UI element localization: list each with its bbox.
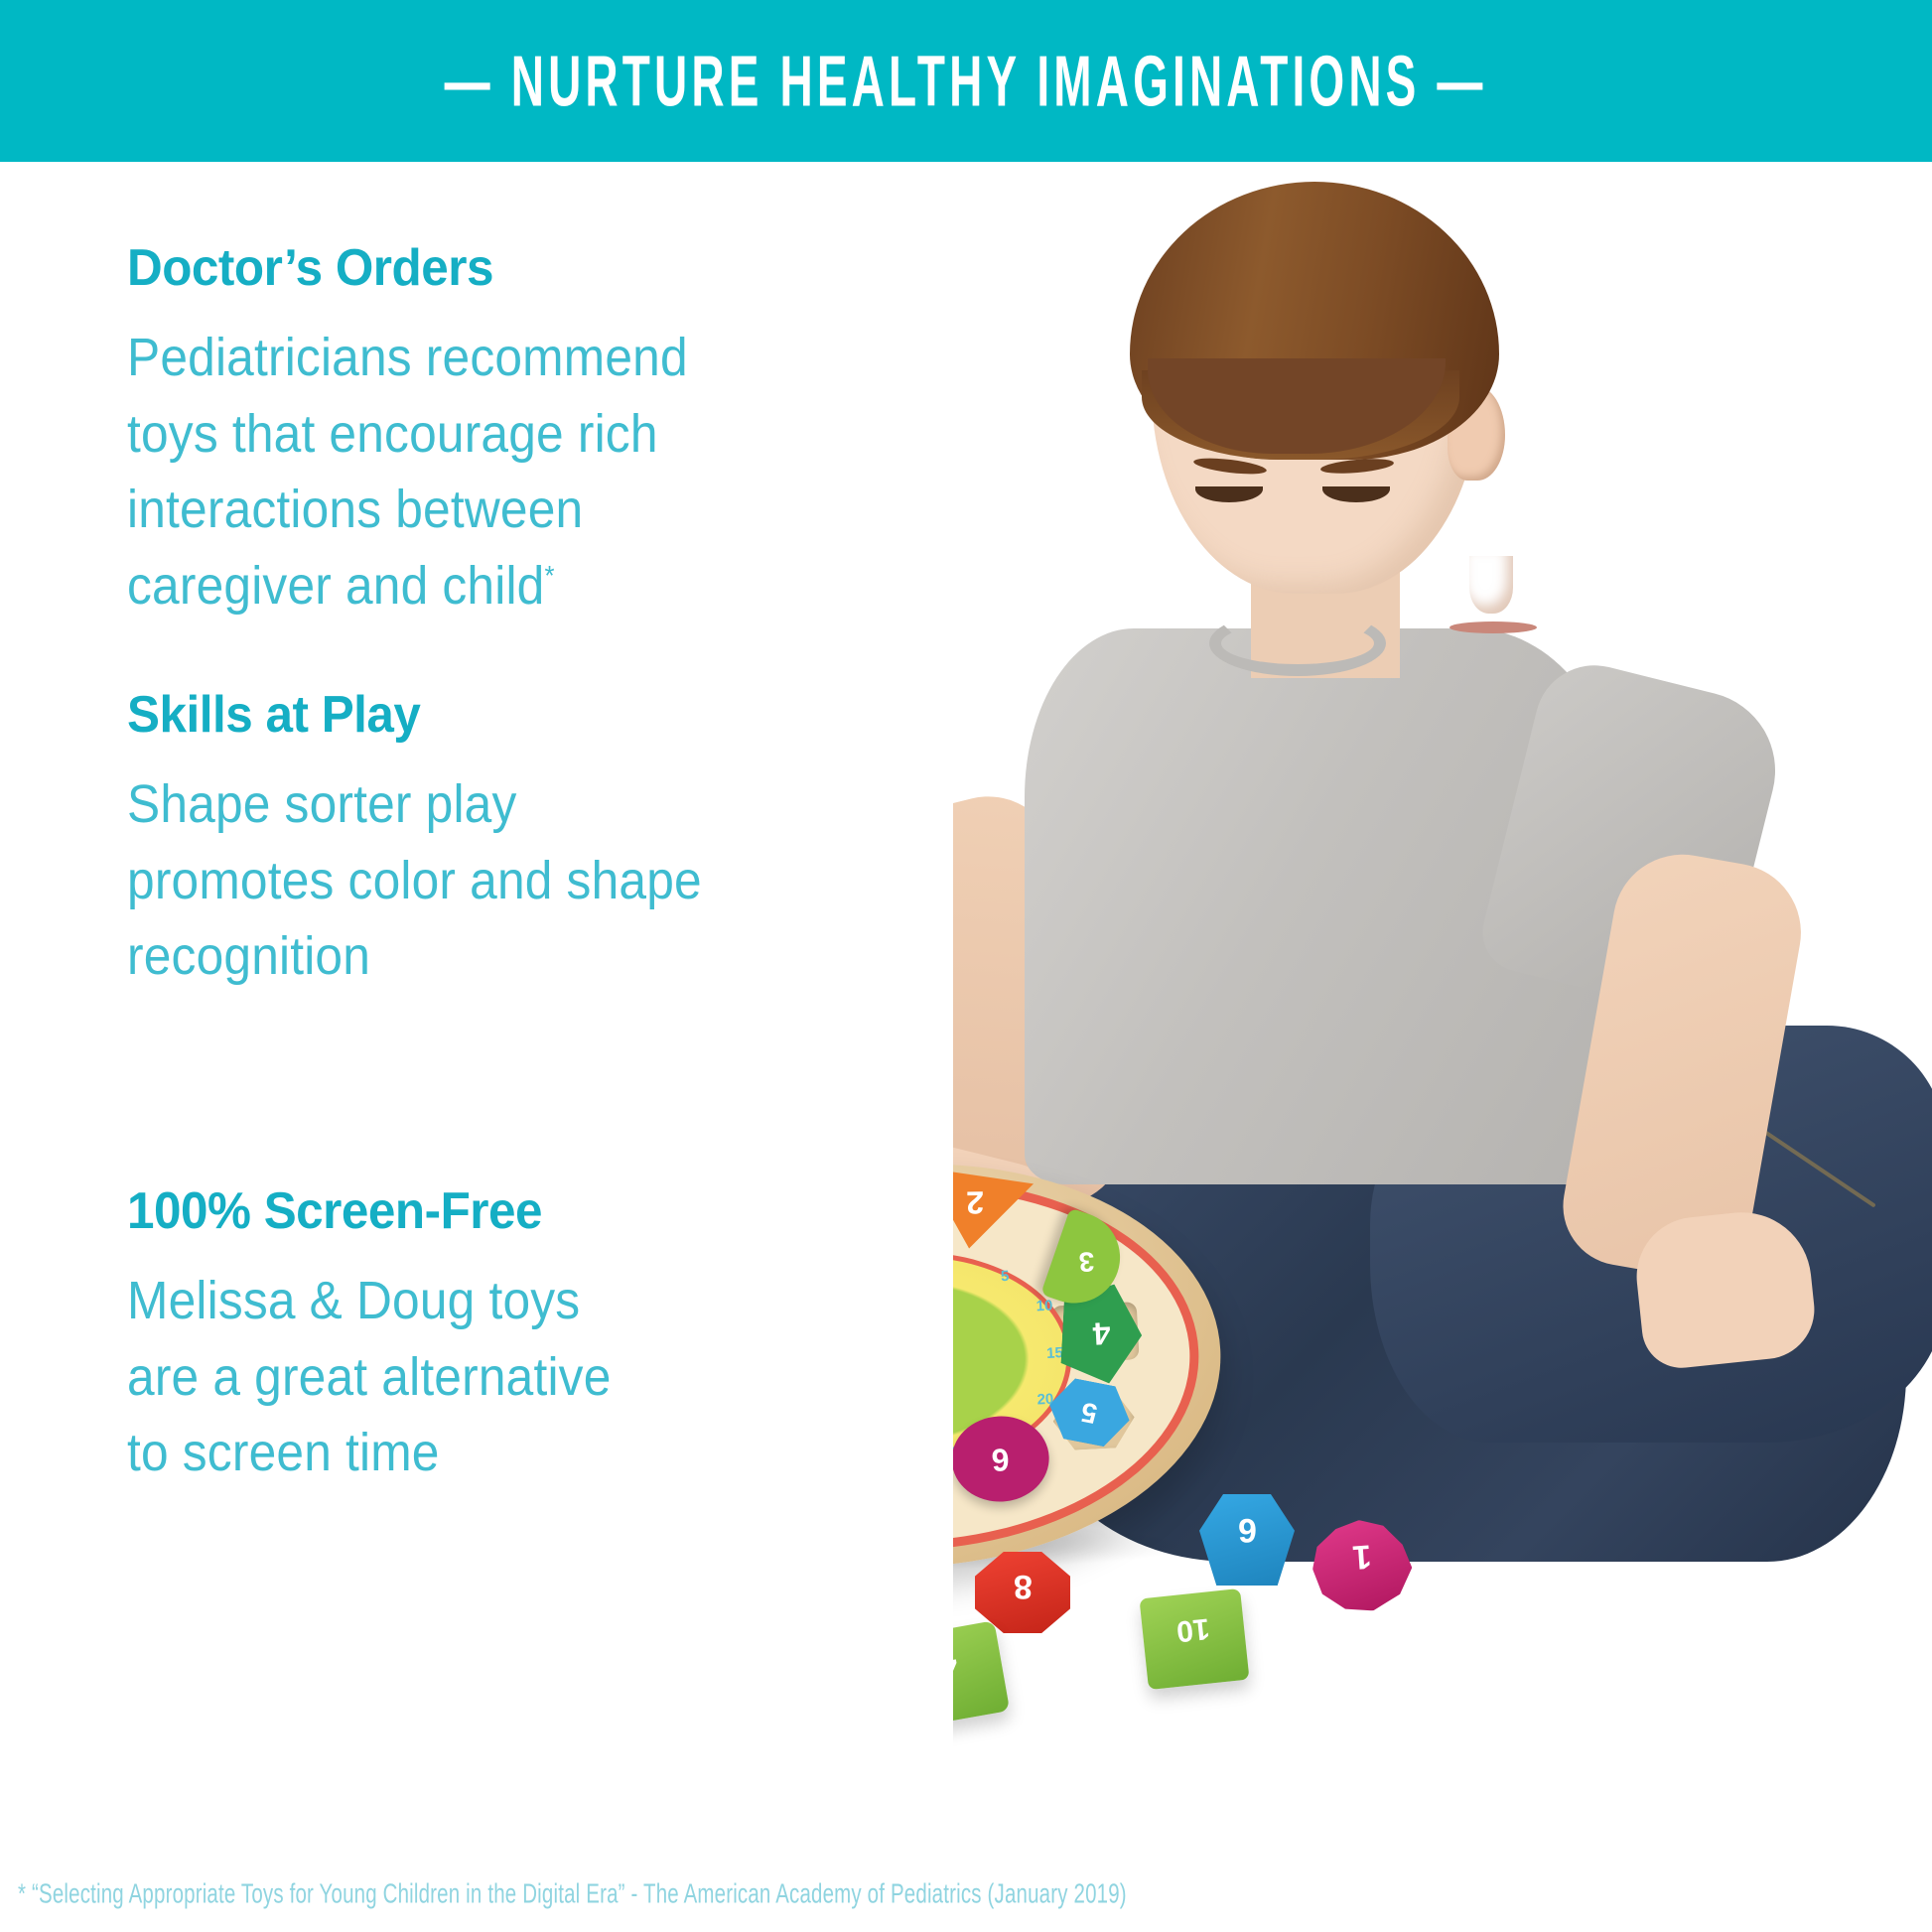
minute-label-15: 15	[1046, 1344, 1064, 1362]
piece-label: 4	[1092, 1314, 1112, 1352]
block-body: Pediatricians recommend toys that encour…	[127, 320, 712, 624]
block-body: Melissa & Doug toys are a great alternat…	[127, 1263, 638, 1491]
block-body: Shape sorter play promotes color and sha…	[127, 766, 730, 995]
shirt-collar	[1209, 611, 1386, 676]
block-heading: 100% Screen-Free	[127, 1181, 655, 1241]
loose-piece-8[interactable]: 8	[975, 1552, 1070, 1633]
mouth	[1449, 621, 1537, 633]
piece-label: 6	[1238, 1510, 1257, 1549]
minute-label-5: 5	[1001, 1268, 1010, 1285]
shape-sorting-clock[interactable]: 5 10 15 20 25 30 35 40 45 50 55 HOUR MIN…	[953, 1149, 1232, 1597]
content-block-doctors-orders: Doctor’s Orders Pediatricians recommend …	[127, 238, 762, 624]
piece-label: 2	[966, 1183, 984, 1220]
nose	[1469, 556, 1513, 614]
loose-piece-10[interactable]: 10	[1139, 1588, 1249, 1690]
page-title: — NURTURE HEALTHY IMAGINATIONS —	[445, 39, 1487, 122]
block-body-text: Pediatricians recommend toys that encour…	[127, 328, 688, 616]
piece-label: 3	[1078, 1245, 1095, 1278]
piece-label: 5	[1079, 1396, 1100, 1430]
block-heading: Skills at Play	[127, 685, 750, 745]
footnote-marker: *	[544, 560, 554, 591]
block-body-text: Shape sorter play promotes color and sha…	[127, 774, 702, 986]
piece-label: 10	[1175, 1610, 1212, 1647]
piece-label: 8	[1014, 1567, 1033, 1605]
piece-label: 6	[991, 1441, 1011, 1478]
piece-label: 1	[1350, 1536, 1372, 1576]
header-band: — NURTURE HEALTHY IMAGINATIONS —	[0, 0, 1932, 162]
block-heading: Doctor’s Orders	[127, 238, 731, 298]
product-photo: 5 10 15 20 25 30 35 40 45 50 55 HOUR MIN…	[953, 162, 1932, 1932]
minute-label-10: 10	[1035, 1298, 1053, 1315]
piece-label: 4	[953, 1645, 960, 1687]
content-block-skills-at-play: Skills at Play Shape sorter play promote…	[127, 685, 782, 995]
content-block-screen-free: 100% Screen-Free Melissa & Doug toys are…	[127, 1181, 683, 1491]
block-body-text: Melissa & Doug toys are a great alternat…	[127, 1271, 612, 1482]
